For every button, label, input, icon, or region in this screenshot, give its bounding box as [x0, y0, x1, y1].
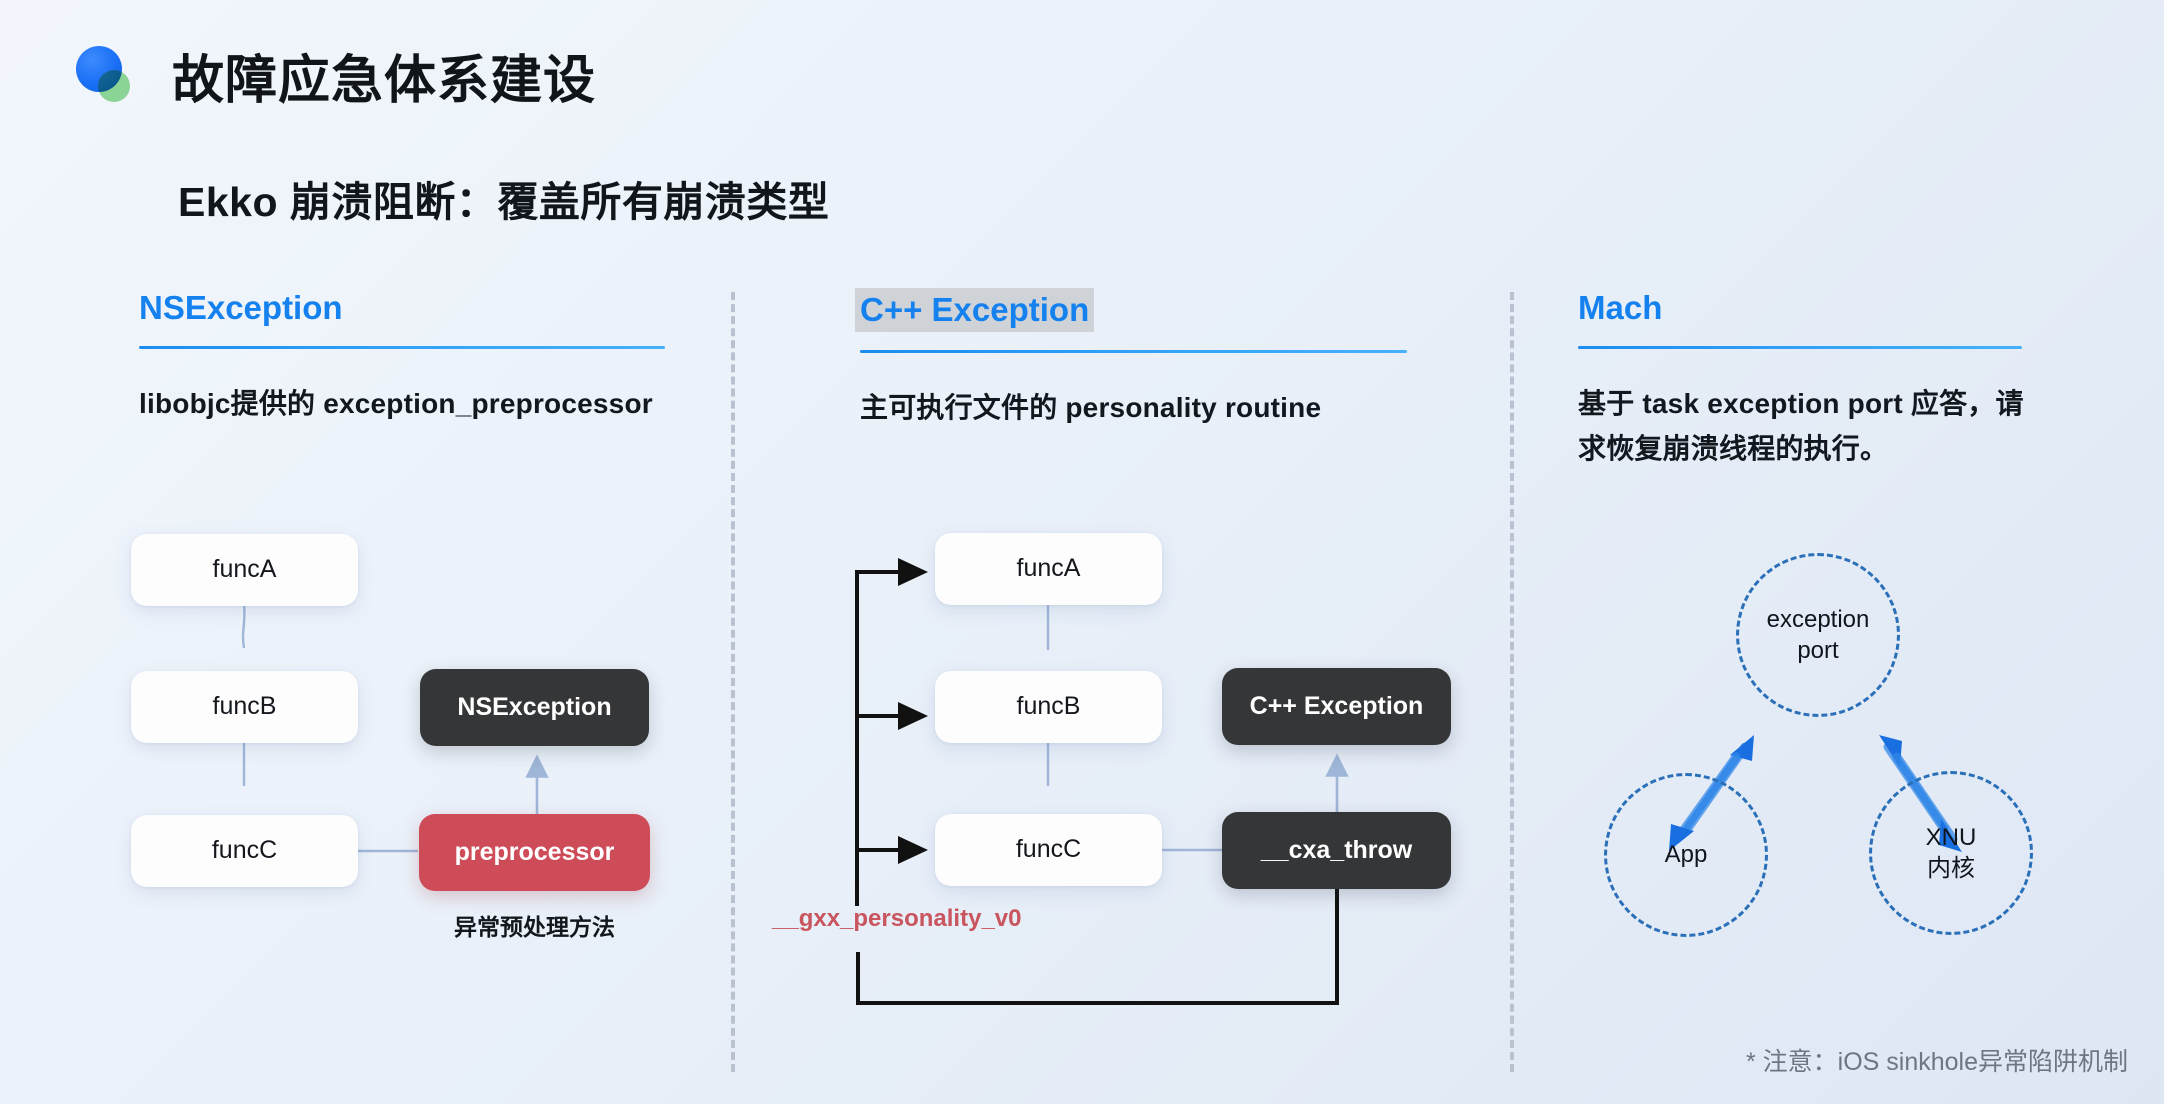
circle-exception-port[interactable]: exception port — [1736, 553, 1900, 717]
node-funcb-nsexception[interactable]: funcB — [131, 671, 358, 743]
circle-xnu-kernel[interactable]: XNU 内核 — [1869, 771, 2033, 935]
column-heading-mach: Mach — [1578, 288, 1662, 328]
node-funcb-cpp[interactable]: funcB — [935, 671, 1162, 743]
node-nsexception[interactable]: NSException — [420, 669, 649, 746]
column-heading-cpp-exception: C++ Exception — [855, 288, 1094, 332]
column-description-nsexception: libobjc提供的 exception_preprocessor — [139, 381, 669, 426]
column-rule-2 — [860, 350, 1407, 353]
circle-xnu-line2: 内核 — [1926, 853, 1977, 884]
column-nsexception: NSException libobjc提供的 exception_preproc… — [139, 288, 669, 426]
node-funcc-nsexception[interactable]: funcC — [131, 815, 358, 887]
node-funca-cpp[interactable]: funcA — [935, 533, 1162, 605]
circle-xnu-line1: XNU — [1926, 822, 1977, 853]
label-gxx-personality-v0: __gxx_personality_v0 — [772, 905, 1021, 933]
circle-app[interactable]: App — [1604, 773, 1768, 937]
node-preprocessor[interactable]: preprocessor — [419, 814, 650, 891]
column-rule-1 — [139, 346, 665, 349]
node-cxa-throw[interactable]: __cxa_throw — [1222, 812, 1451, 889]
page-title: 故障应急体系建设 — [172, 38, 596, 113]
column-divider-2 — [1510, 292, 1514, 1072]
column-divider-1 — [731, 292, 735, 1072]
brand-dots-icon — [76, 46, 138, 104]
column-rule-3 — [1578, 346, 2022, 349]
node-cpp-exception[interactable]: C++ Exception — [1222, 668, 1451, 745]
column-heading-nsexception: NSException — [139, 288, 343, 328]
slide-subtitle: Ekko 崩溃阻断：覆盖所有崩溃类型 — [178, 168, 829, 228]
column-description-mach: 基于 task exception port 应答，请求恢复崩溃线程的执行。 — [1578, 381, 2028, 472]
node-funcc-cpp[interactable]: funcC — [935, 814, 1162, 886]
footnote: * 注意：iOS sinkhole异常陷阱机制 — [1746, 1042, 2128, 1078]
column-cpp-exception: C++ Exception 主可执行文件的 personality routin… — [860, 288, 1420, 430]
column-description-cpp-exception: 主可执行文件的 personality routine — [860, 385, 1420, 430]
circle-app-label: App — [1665, 839, 1708, 870]
circle-exception-port-line1: exception — [1767, 604, 1870, 635]
caption-preprocessor: 异常预处理方法 — [419, 908, 650, 942]
circle-exception-port-line2: port — [1767, 635, 1870, 666]
node-funca-nsexception[interactable]: funcA — [131, 534, 358, 606]
logo-green-circle — [98, 70, 130, 102]
slide-root: 故障应急体系建设 Ekko 崩溃阻断：覆盖所有崩溃类型 NSException … — [0, 0, 2164, 1104]
column-mach: Mach 基于 task exception port 应答，请求恢复崩溃线程的… — [1578, 288, 2028, 471]
